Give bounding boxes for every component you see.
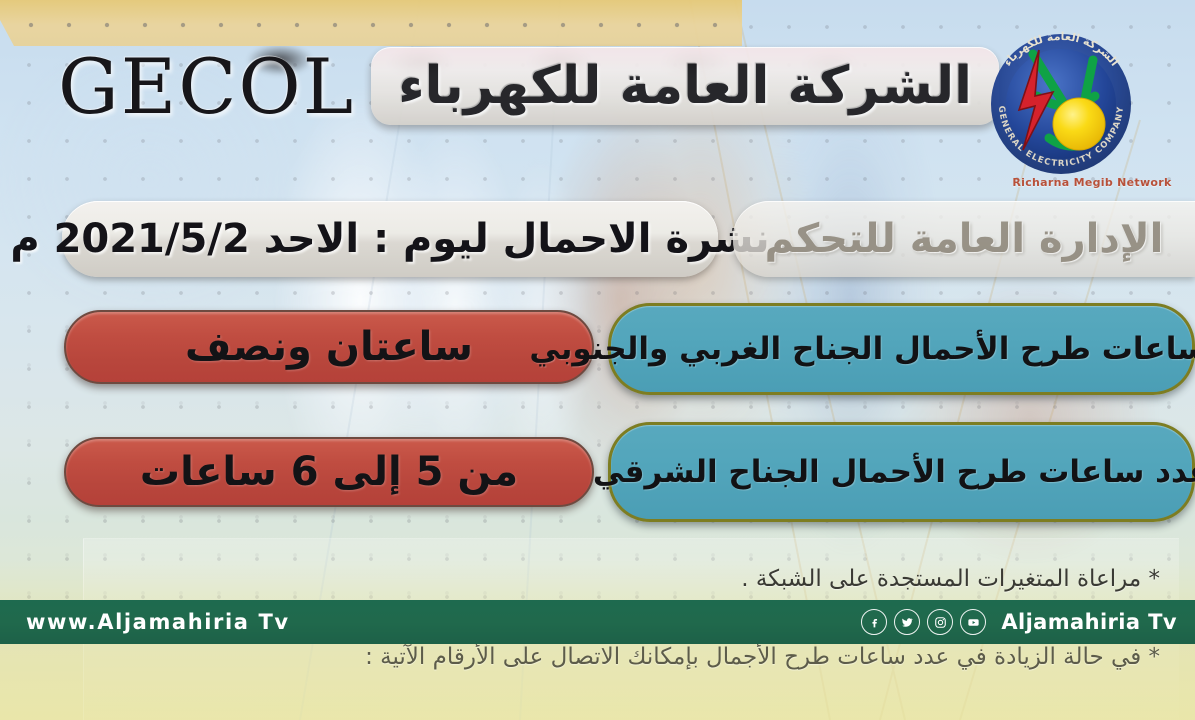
note-line-1: * مراعاة المتغيرات المستجدة على الشبكة . [420,566,1160,592]
row-1-value-text: ساعتان ونصف [185,324,473,370]
footer-website[interactable]: www.Aljamahiria Tv [26,610,290,634]
row-2-value-text: من 5 إلى 6 ساعات [140,449,518,495]
facebook-icon[interactable] [861,609,887,635]
row-2-value-box: من 5 إلى 6 ساعات [64,437,594,507]
bulletin-canvas: GECOL الشركة العامة للكهرباء [0,0,1195,720]
footer-bar: www.Aljamahiria Tv Aljamahiria Tv [0,600,1195,644]
logo-caption: Richarna Megib Network [1012,176,1172,189]
row-1-value-box: ساعتان ونصف [64,310,594,384]
footer-social-group: Aljamahiria Tv [861,609,1177,635]
company-title-pill: الشركة العامة للكهرباء [371,47,999,125]
note-line-2: * في حالة الزيادة في عدد ساعات طرح الأجم… [330,640,1160,675]
gecol-logo: الشركة العامة للكهرباء GENERAL ELECTRICI… [975,18,1155,190]
company-title-text: الشركة العامة للكهرباء [398,56,972,116]
department-text: الإدارة العامة للتحكم [765,216,1164,262]
gecol-wordmark: GECOL [58,42,355,131]
footer-handle[interactable]: Aljamahiria Tv [1001,610,1177,634]
youtube-icon[interactable] [960,609,986,635]
instagram-icon[interactable] [927,609,953,635]
top-yellow-band-dots [0,0,742,46]
date-text: نشرة الاحمال ليوم : الاحد 2021/5/2 م [10,216,769,262]
twitter-icon[interactable] [894,609,920,635]
date-pill: نشرة الاحمال ليوم : الاحد 2021/5/2 م [62,201,718,277]
department-pill: الإدارة العامة للتحكم [733,201,1195,277]
row-2-label-text: عدد ساعات طرح الأحمال الجناح الشرقي [593,454,1195,490]
row-2-label-box: عدد ساعات طرح الأحمال الجناح الشرقي [608,422,1195,522]
row-1-label-box: عدد ساعات طرح الأحمال الجناح الغربي والج… [608,303,1195,395]
row-1-label-text: عدد ساعات طرح الأحمال الجناح الغربي والج… [529,331,1195,367]
